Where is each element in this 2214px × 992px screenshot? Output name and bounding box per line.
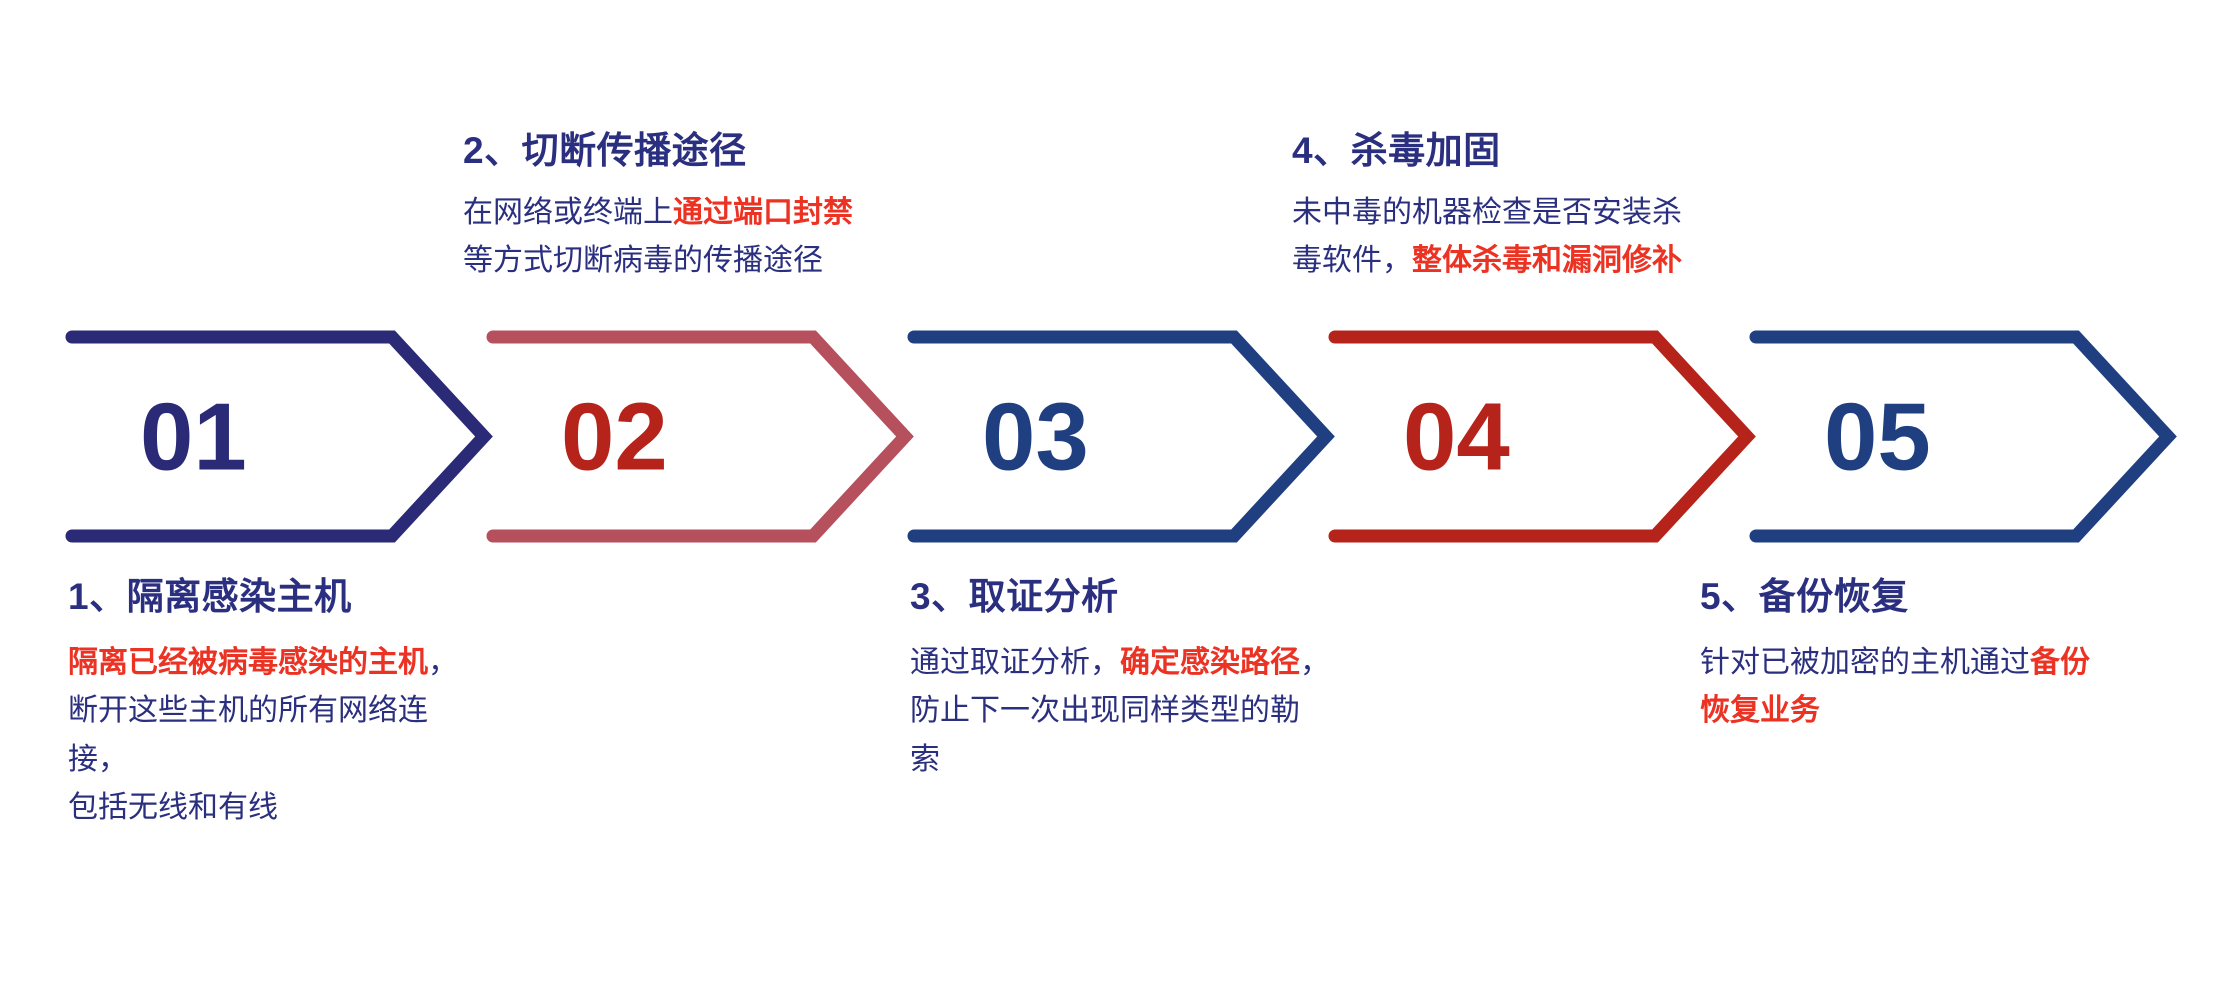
highlighted-phrase: 备份 [2030, 646, 2090, 679]
chevron-05 [1756, 337, 2168, 536]
chevron-04 [1335, 337, 1747, 536]
step-body-line: 隔离已经被病毒感染的主机， [68, 639, 468, 688]
step-body-1: 隔离已经被病毒感染的主机，断开这些主机的所有网络连接，包括无线和有线 [68, 639, 468, 833]
step-body-3: 通过取证分析，确定感染路径，防止下一次出现同样类型的勒索 [910, 639, 1330, 785]
chevron-number-01: 01 [140, 384, 247, 491]
body-text: 未中毒的机器检查是否安装杀 [1292, 196, 1682, 229]
highlighted-phrase: 恢复业务 [1700, 694, 1820, 727]
chevron-03 [914, 337, 1326, 536]
step-block-3: 3、取证分析 通过取证分析，确定感染路径，防止下一次出现同样类型的勒索 [910, 576, 1330, 784]
step-body-line: 未中毒的机器检查是否安装杀 [1292, 189, 1732, 238]
chevron-number-03: 03 [982, 384, 1089, 491]
step-body-line: 防止下一次出现同样类型的勒 [910, 687, 1330, 736]
step-title-1: 1、隔离感染主机 [68, 576, 468, 619]
step-body-line: 在网络或终端上通过端口封禁 [463, 189, 883, 238]
body-text: 断开这些主机的所有网络连接， [68, 694, 428, 776]
step-title-5: 5、备份恢复 [1700, 576, 2140, 619]
body-text: 防止下一次出现同样类型的勒 [910, 694, 1300, 727]
body-text: 毒软件， [1292, 244, 1412, 277]
step-body-2: 在网络或终端上通过端口封禁等方式切断病毒的传播途径 [463, 189, 883, 286]
chevron-sequence: 0102030405 [0, 0, 2214, 992]
step-title-4: 4、杀毒加固 [1292, 130, 1732, 173]
step-body-4: 未中毒的机器检查是否安装杀毒软件，整体杀毒和漏洞修补 [1292, 189, 1732, 286]
step-title-2: 2、切断传播途径 [463, 130, 883, 173]
body-text: ， [1300, 646, 1330, 679]
chevron-svg: 0102030405 [0, 0, 2214, 992]
step-body-line: 索 [910, 736, 1330, 785]
infographic-canvas: 0102030405 1、隔离感染主机 隔离已经被病毒感染的主机，断开这些主机的… [0, 0, 2214, 992]
highlighted-phrase: 隔离已经被病毒感染的主机 [68, 646, 428, 679]
body-text: 索 [910, 743, 940, 776]
chevron-number-02: 02 [561, 384, 668, 491]
step-body-5: 针对已被加密的主机通过备份恢复业务 [1700, 639, 2140, 736]
body-text: 针对已被加密的主机通过 [1700, 646, 2030, 679]
body-text: 包括无线和有线 [68, 791, 278, 824]
step-block-4: 4、杀毒加固 未中毒的机器检查是否安装杀毒软件，整体杀毒和漏洞修补 [1292, 130, 1732, 286]
step-block-5: 5、备份恢复 针对已被加密的主机通过备份恢复业务 [1700, 576, 2140, 736]
highlighted-phrase: 确定感染路径 [1120, 646, 1300, 679]
step-body-line: 通过取证分析，确定感染路径， [910, 639, 1330, 688]
body-text: 在网络或终端上 [463, 196, 673, 229]
step-body-line: 断开这些主机的所有网络连接， [68, 687, 468, 784]
chevron-01 [72, 337, 484, 536]
chevron-number-04: 04 [1403, 384, 1510, 491]
chevron-02 [493, 337, 905, 536]
step-block-2: 2、切断传播途径 在网络或终端上通过端口封禁等方式切断病毒的传播途径 [463, 130, 883, 286]
step-body-line: 包括无线和有线 [68, 784, 468, 833]
highlighted-phrase: 通过端口封禁 [673, 196, 853, 229]
step-body-line: 针对已被加密的主机通过备份 [1700, 639, 2140, 688]
body-text: 通过取证分析， [910, 646, 1120, 679]
step-title-3: 3、取证分析 [910, 576, 1330, 619]
step-body-line: 恢复业务 [1700, 687, 2140, 736]
step-body-line: 等方式切断病毒的传播途径 [463, 237, 883, 286]
step-body-line: 毒软件，整体杀毒和漏洞修补 [1292, 237, 1732, 286]
body-text: ， [428, 646, 458, 679]
highlighted-phrase: 整体杀毒和漏洞修补 [1412, 244, 1682, 277]
step-block-1: 1、隔离感染主机 隔离已经被病毒感染的主机，断开这些主机的所有网络连接，包括无线… [68, 576, 468, 833]
chevron-number-05: 05 [1824, 384, 1931, 491]
body-text: 等方式切断病毒的传播途径 [463, 244, 823, 277]
